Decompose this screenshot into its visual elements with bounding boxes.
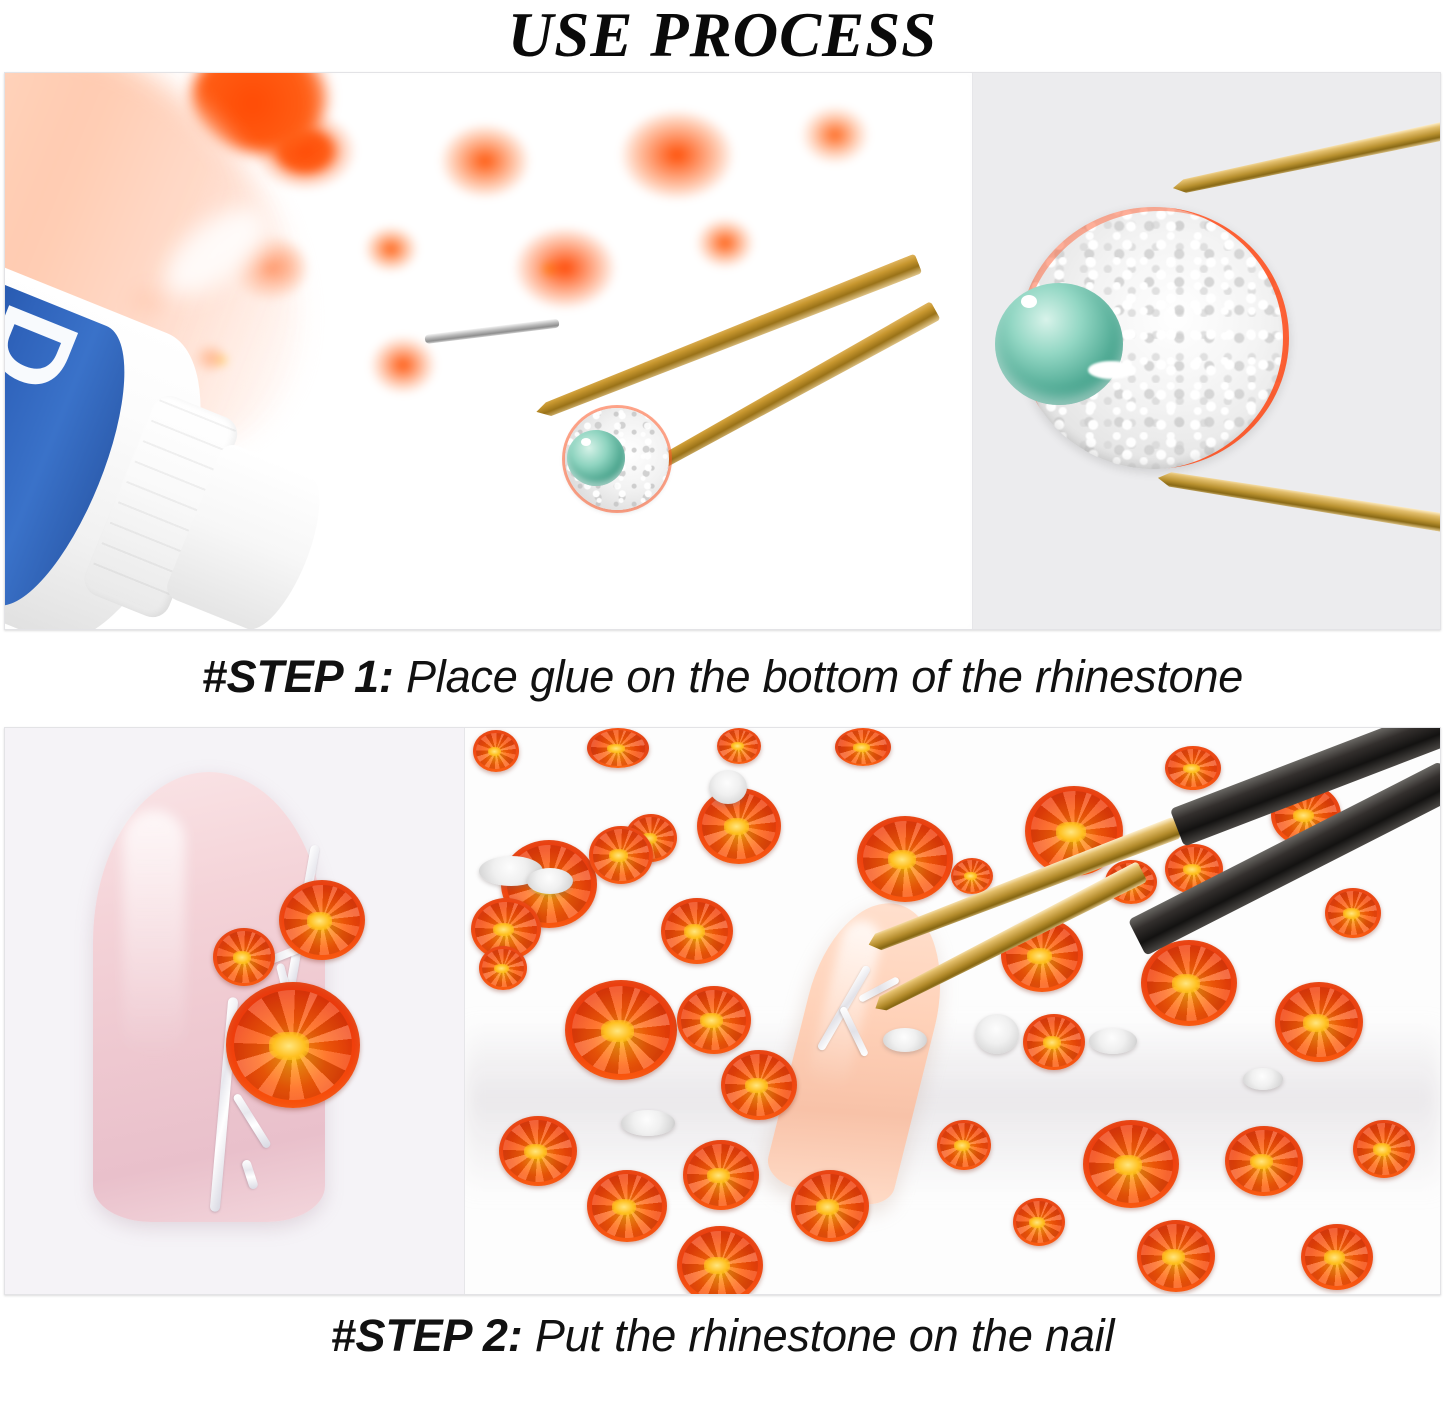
- silver-foil-line: [241, 1159, 259, 1190]
- orange-rhinestone: [1013, 1198, 1065, 1246]
- orange-rhinestone: [661, 898, 733, 964]
- step-1-text: Place glue on the bottom of the rhinesto…: [394, 651, 1243, 702]
- orange-rhinestone: [1165, 746, 1221, 790]
- orange-rhinestone: [677, 986, 751, 1054]
- orange-rhinestone: [717, 728, 761, 764]
- orange-rhinestone: [565, 980, 677, 1080]
- orange-rhinestone: [1141, 940, 1237, 1026]
- step-1-caption: #STEP 1: Place glue on the bottom of the…: [0, 630, 1445, 727]
- rhinestone-foil-back: [883, 1028, 927, 1052]
- orange-rhinestone: [499, 1116, 577, 1186]
- orange-rhinestone: [479, 946, 527, 990]
- orange-rhinestone: [587, 728, 649, 768]
- page-title: USE PROCESS: [0, 0, 1445, 72]
- orange-rhinestone: [677, 1226, 763, 1294]
- large-rhinestone: [226, 982, 360, 1108]
- glue-highlight: [1088, 361, 1134, 379]
- orange-rhinestone: [1225, 1126, 1303, 1196]
- rhinestone-foil-back: [975, 1014, 1019, 1054]
- orange-rhinestone: [1301, 1224, 1373, 1290]
- rhinestone-foil-back: [527, 868, 573, 894]
- orange-rhinestone: [857, 816, 953, 902]
- small-rhinestone: [213, 928, 275, 986]
- rhinestone-foil-back: [621, 1110, 675, 1136]
- step-2-photo-row: [4, 727, 1441, 1295]
- step-2-text: Put the rhinestone on the nail: [523, 1310, 1115, 1361]
- orange-rhinestone: [1137, 1220, 1215, 1292]
- orange-rhinestone: [683, 1140, 759, 1210]
- medium-rhinestone: [279, 880, 365, 960]
- rhinestone-foil-back: [1243, 1068, 1283, 1090]
- nail-gloss: [123, 810, 185, 1060]
- orange-rhinestone: [937, 1120, 991, 1170]
- orange-rhinestones: [465, 728, 1440, 1294]
- orange-rhinestone: [473, 730, 519, 772]
- orange-rhinestone: [1353, 1120, 1415, 1178]
- step-2-block: #STEP 2: Put the rhinestone on the nail: [0, 727, 1445, 1369]
- pink-nail: [93, 772, 325, 1222]
- orange-rhinestone: [951, 858, 993, 894]
- orange-rhinestone: [587, 1170, 667, 1242]
- orange-rhinestone: [791, 1170, 869, 1242]
- gold-tweezer-arm-lower: [1156, 468, 1440, 535]
- green-glue-drop: [567, 430, 625, 486]
- finished-nail-photo: [5, 728, 464, 1294]
- step-1-label: #STEP 1:: [202, 651, 394, 702]
- orange-rhinestone: [1325, 888, 1381, 938]
- teal-glue-drop: [995, 283, 1123, 405]
- rhinestone-closeup-photo: [972, 73, 1440, 629]
- step-2-label: #STEP 2:: [331, 1310, 523, 1361]
- step-1-photo-row: R D: [4, 72, 1441, 630]
- orange-rhinestone: [721, 1050, 797, 1120]
- rhinestone-foil-back: [565, 408, 669, 510]
- orange-rhinestone: [589, 826, 653, 884]
- gold-tweezer-arm-upper: [1171, 117, 1440, 198]
- orange-rhinestone: [1023, 1014, 1085, 1070]
- rhinestone-foil-back: [1089, 1028, 1137, 1054]
- rhinestone-foil-back: [709, 770, 747, 804]
- orange-rhinestone: [835, 728, 891, 766]
- glue-application-photo: R D: [5, 73, 972, 629]
- orange-rhinestone: [1083, 1120, 1179, 1208]
- step-2-caption: #STEP 2: Put the rhinestone on the nail: [0, 1295, 1445, 1369]
- applying-rhinestone-photo: [464, 728, 1440, 1294]
- orange-rhinestone: [1275, 982, 1363, 1062]
- step-1-block: R D #STEP 1: Place glue on the bottom of…: [0, 72, 1445, 727]
